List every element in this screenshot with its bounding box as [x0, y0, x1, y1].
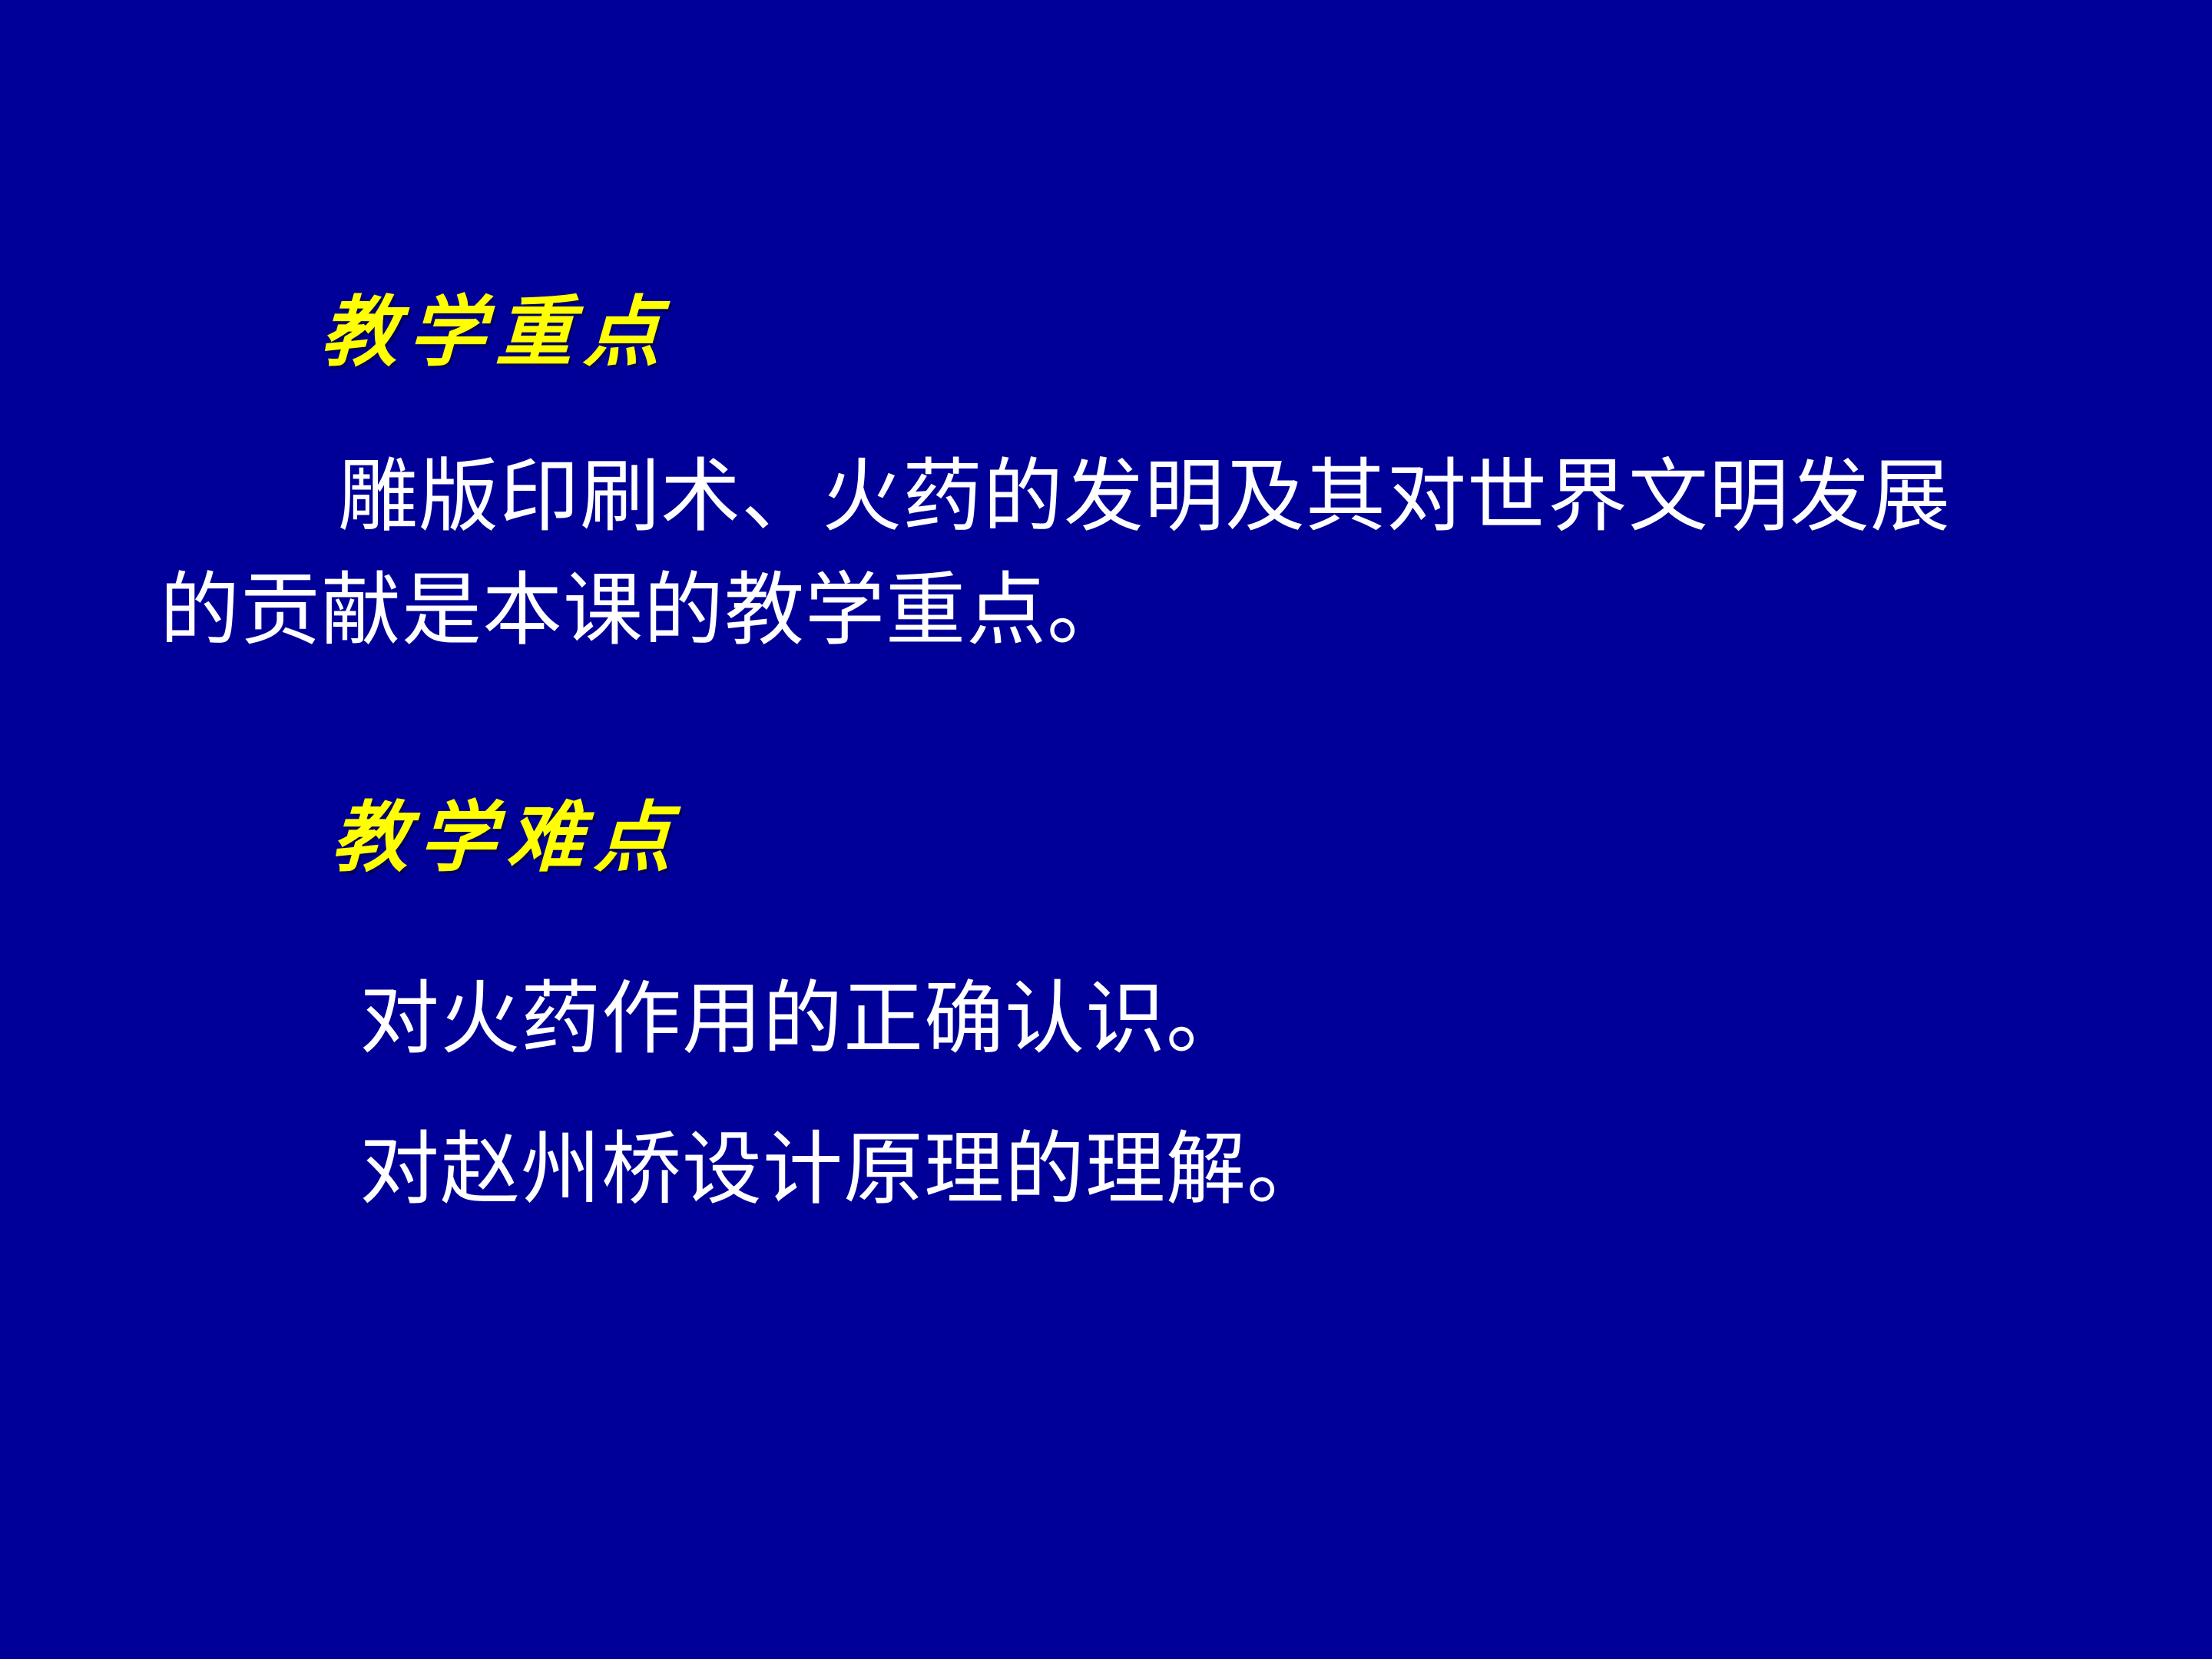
focus-paragraph-line-2: 的贡献是本课的教学重点。: [160, 553, 2157, 667]
focus-paragraph: 雕版印刷术、火药的发明及其对世界文明发展 的贡献是本课的教学重点。: [160, 439, 2157, 667]
focus-paragraph-line-1: 雕版印刷术、火药的发明及其对世界文明发展: [160, 439, 2157, 553]
section-heading-difficulty: 教学难点: [330, 797, 684, 878]
presentation-slide: 教学重点 雕版印刷术、火药的发明及其对世界文明发展 的贡献是本课的教学重点。 教…: [0, 0, 2212, 1659]
section-heading-focus: 教学重点: [320, 292, 673, 373]
difficulty-line-1: 对火药作用的正确认识。: [359, 962, 1247, 1075]
difficulty-line-2: 对赵州桥设计原理的理解。: [359, 1112, 1327, 1226]
